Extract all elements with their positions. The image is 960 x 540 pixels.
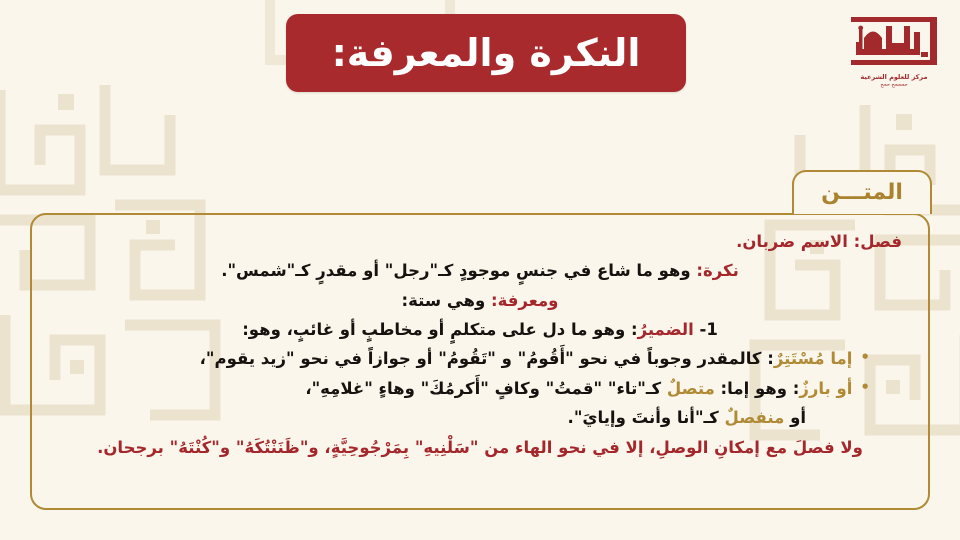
line-fasl: فصل: الاسم ضربان. (58, 227, 902, 256)
line-marifa: ومعرفة: وهي ستة: (58, 286, 902, 315)
line-marifa-segment-0: ومعرفة: (491, 291, 558, 310)
matn-tab-label: المتـــن (821, 182, 903, 204)
ehkam-wordmark-icon (842, 14, 946, 72)
matn-body: فصل: الاسم ضربان.نكرة: وهو ما شاع في جنس… (58, 227, 902, 462)
line-fasl-segment-0: فصل: الاسم ضربان. (736, 232, 902, 251)
bullet-bariz-segment-3: كـ"تاء" "قمتُ" وكافٍ "أَكرمُكَ" وهاءٍ "غ… (305, 379, 667, 398)
page-title: النكرة والمعرفة: (332, 34, 641, 72)
logo: مركز للعلوم الشرعية ححححح ححح (842, 14, 946, 98)
bullet-bariz-segment-2: متصلٌ (667, 379, 715, 398)
slide-title-banner: النكرة والمعرفة: (286, 14, 686, 92)
logo-subtitle: مركز للعلوم الشرعية (842, 73, 946, 82)
bullet-dot-icon: • (860, 380, 870, 395)
line-marifa-segment-1: وهي ستة: (402, 291, 491, 310)
bullet-mustatir-text: إما مُسْتَتِرٌ: كالمقدر وجوباً في نحو "أ… (200, 344, 853, 373)
bullet-bariz-segment-1: : وهو إما: (715, 379, 800, 398)
line-fasl-wasl: ولا فصلَ مع إمكانِ الوصلِ، إلا في نحو ال… (58, 433, 902, 462)
line-damir-segment-2: : وهو ما دل على متكلمٍ أو مخاطبٍ أو غائب… (242, 320, 637, 339)
bullet-mustatir-segment-0: إما (825, 349, 853, 368)
matn-tab: المتـــن (792, 170, 932, 214)
matn-content-box: فصل: الاسم ضربان.نكرة: وهو ما شاع في جنس… (30, 213, 930, 510)
line-nakira: نكرة: وهو ما شاع في جنسٍ موجودٍ كـ"رجل" … (58, 256, 902, 285)
line-munfasil-segment-0: أو (784, 408, 806, 427)
line-munfasil: أو منفصلٌ كـ"أنا وأنتَ وإيايَ". (58, 403, 902, 432)
bullet-bariz: •أو بارزٌ: وهو إما: متصلٌ كـ"تاء" "قمتُ"… (58, 374, 902, 403)
bullet-mustatir-segment-1: مُسْتَتِرٌ (774, 349, 825, 368)
line-damir: 1- الضميرُ: وهو ما دل على متكلمٍ أو مخاط… (58, 315, 902, 344)
line-damir-segment-0: 1- (694, 320, 718, 339)
bullet-mustatir: •إما مُسْتَتِرٌ: كالمقدر وجوباً في نحو "… (58, 344, 902, 373)
bullet-dot-icon: • (860, 350, 870, 365)
line-nakira-segment-1: وهو ما شاع في جنسٍ موجودٍ كـ"رجل" أو مقد… (221, 261, 696, 280)
line-munfasil-segment-2: كـ"أنا وأنتَ وإيايَ". (568, 408, 725, 427)
bullet-mustatir-segment-2: : كالمقدر وجوباً في نحو "أَقُومُ" و "تَق… (200, 349, 774, 368)
bullet-bariz-text: أو بارزٌ: وهو إما: متصلٌ كـ"تاء" "قمتُ" … (305, 374, 852, 403)
line-munfasil-segment-1: منفصلٌ (725, 408, 785, 427)
bullet-bariz-segment-0: أو بارزٌ (799, 379, 852, 398)
line-damir-segment-1: الضميرُ (638, 320, 694, 339)
line-nakira-segment-0: نكرة: (696, 261, 738, 280)
logo-subtitle-secondary: ححححح ححح (842, 82, 946, 89)
